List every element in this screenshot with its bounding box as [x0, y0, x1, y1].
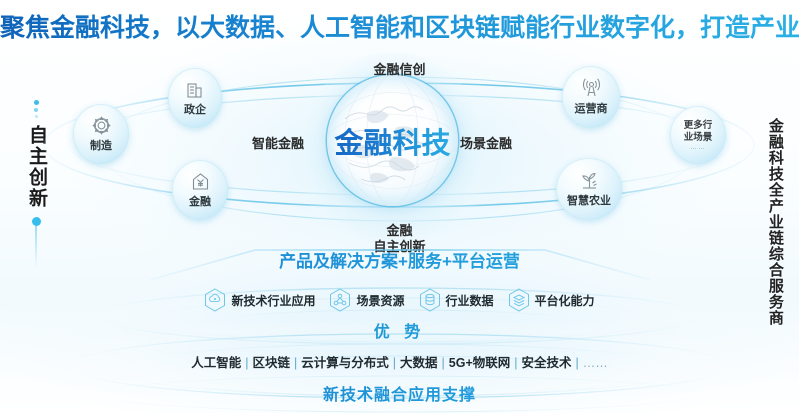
- bubble-label-line-1: 更多行: [684, 120, 713, 131]
- separator: |: [294, 356, 297, 370]
- advantage-label: 平台化能力: [535, 292, 595, 309]
- network-node-hex-icon: [329, 288, 351, 312]
- center-keyword: 金融科技: [327, 120, 458, 162]
- bank-yuan-icon: [190, 171, 211, 192]
- bubble-label: 金融: [189, 193, 211, 209]
- orbit-label-left: 智能金融: [252, 133, 304, 152]
- tech-item: 人工智能: [191, 356, 241, 370]
- bubble-manufacturing[interactable]: 制造: [73, 104, 129, 164]
- bubble-more-scenes[interactable]: 更多行 业场景 ……: [670, 106, 726, 164]
- advantage-label: 新技术行业应用: [231, 292, 315, 309]
- advantage-item[interactable]: 平台化能力: [508, 288, 595, 312]
- antenna-icon: [581, 78, 602, 99]
- tech-item: 5G+物联网: [449, 356, 510, 370]
- tech-item: 安全技术: [522, 356, 572, 370]
- technologies-row: 人工智能|区块链|云计算与分布式|大数据|5G+物联网|安全技术|……: [0, 352, 799, 371]
- bubble-finance[interactable]: 金融: [172, 160, 228, 220]
- products-headline: 产品及解决方案+服务+平台运营: [0, 247, 799, 272]
- bubble-label: 政企: [184, 101, 206, 117]
- bubble-government-enterprise[interactable]: 政企: [168, 68, 222, 128]
- bubble-label: 智慧农业: [567, 192, 611, 208]
- database-hex-icon: [419, 288, 441, 312]
- tech-item: 区块链: [252, 356, 290, 370]
- bubble-label: 制造: [90, 137, 112, 153]
- orbit-label-right: 场景金融: [460, 133, 512, 152]
- separator: |: [245, 356, 248, 370]
- advantage-label: 行业数据: [446, 292, 494, 309]
- separator: |: [442, 356, 445, 370]
- page-title: 聚焦金融科技，以大数据、人工智能和区块链赋能行业数字化，打造产业融合新生态: [0, 8, 799, 44]
- technologies-title: 新技术融合应用支撑: [0, 381, 799, 405]
- tech-item: 大数据: [400, 356, 438, 370]
- gear-icon: [91, 115, 112, 136]
- separator: |: [514, 356, 517, 370]
- bubble-label: 运营商: [575, 100, 608, 116]
- tech-item: 云计算与分布式: [301, 356, 389, 370]
- separator: |: [576, 356, 579, 370]
- advantage-item[interactable]: 场景资源: [329, 288, 404, 312]
- advantages-row: 新技术行业应用 场景资源 行业数据: [0, 288, 799, 312]
- bubble-smart-agriculture[interactable]: 智慧农业: [556, 158, 622, 220]
- agriculture-icon: [579, 170, 600, 191]
- bubble-operator[interactable]: 运营商: [562, 66, 620, 128]
- orbit-label-top: 金融信创: [0, 59, 799, 78]
- bubble-label-line-2: 业场景: [684, 132, 713, 143]
- building-icon: [185, 80, 205, 100]
- advantages-title: 优 势: [0, 318, 799, 342]
- cloud-tech-hex-icon: [204, 288, 226, 312]
- advantage-label: 场景资源: [356, 292, 404, 309]
- layers-hex-icon: [508, 288, 530, 312]
- separator: |: [393, 356, 396, 370]
- infographic-canvas: 聚焦金融科技，以大数据、人工智能和区块链赋能行业数字化，打造产业融合新生态 自主…: [0, 0, 799, 413]
- advantage-item[interactable]: 行业数据: [419, 288, 494, 312]
- advantage-item[interactable]: 新技术行业应用: [204, 288, 315, 312]
- bubble-ellipsis: ……: [690, 144, 706, 151]
- tech-ellipsis: ……: [583, 356, 608, 370]
